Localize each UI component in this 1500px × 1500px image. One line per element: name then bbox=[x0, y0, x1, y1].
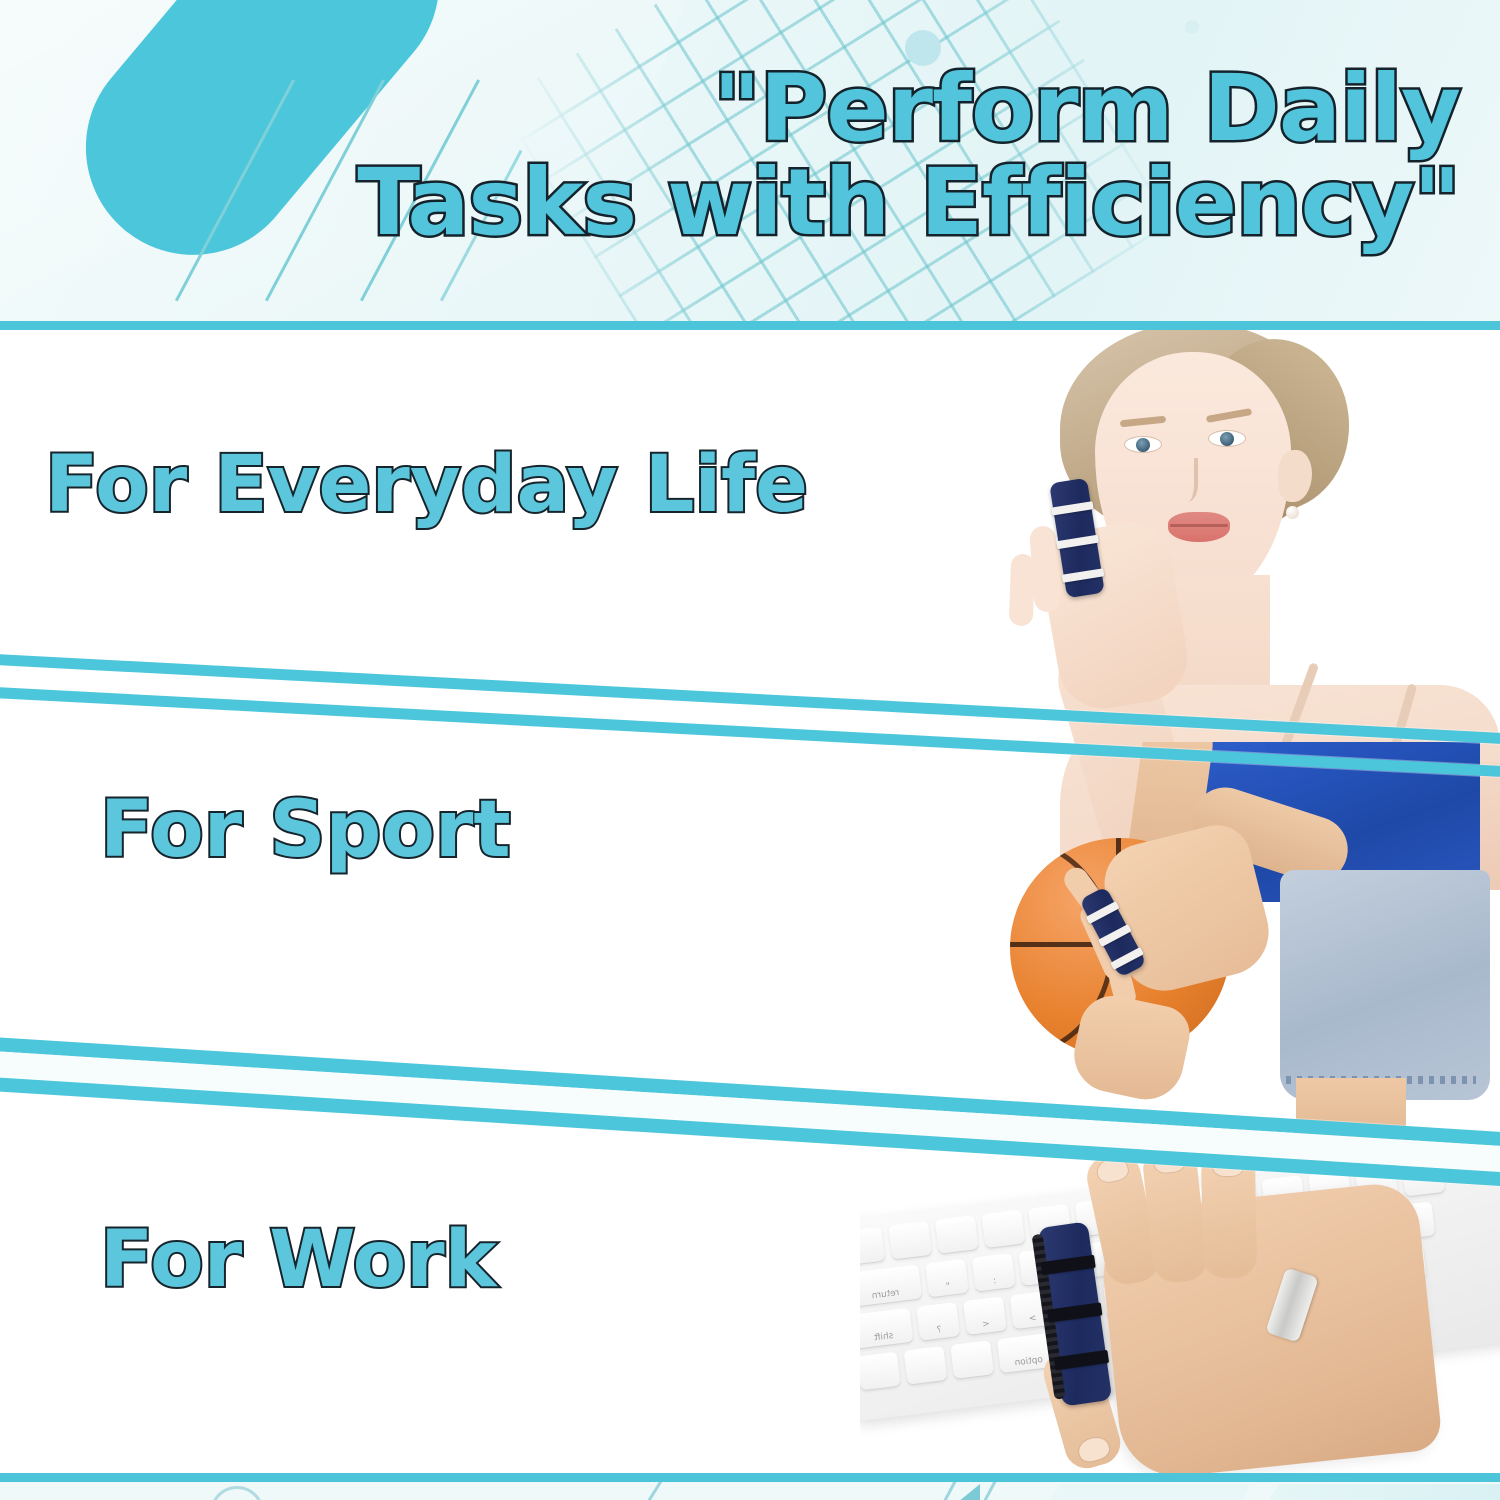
keyboard-key bbox=[860, 1227, 885, 1266]
poster-body: return " : L K J H G F D S A shift ? < bbox=[0, 330, 1500, 1473]
splint-strap bbox=[1051, 501, 1094, 515]
keyboard-key bbox=[935, 1215, 979, 1254]
splint-strap bbox=[1056, 535, 1099, 549]
model-eye bbox=[1208, 430, 1246, 447]
keyboard-key-return: return bbox=[860, 1264, 922, 1307]
splint-strap bbox=[1040, 1255, 1095, 1275]
poster-header: "Perform Daily Tasks with Efficiency" bbox=[0, 0, 1500, 330]
footer-line-decoration bbox=[640, 1473, 674, 1500]
splint-strap bbox=[1110, 947, 1144, 970]
keyboard-key bbox=[888, 1221, 932, 1260]
splint-strap bbox=[1054, 1350, 1109, 1370]
splint-strap bbox=[1086, 901, 1120, 924]
scene-sport bbox=[980, 742, 1500, 1162]
footer-shape-decoration bbox=[1260, 1484, 1500, 1500]
fingernail bbox=[1096, 1160, 1130, 1184]
headline: "Perform Daily Tasks with Efficiency" bbox=[0, 62, 1460, 250]
model-finger bbox=[1009, 554, 1035, 627]
footer-triangle-decoration bbox=[958, 1484, 980, 1500]
section-label-everyday-life: For Everyday Life bbox=[45, 440, 808, 530]
player-denim-shorts bbox=[1280, 870, 1490, 1100]
model-lip-line bbox=[1170, 524, 1228, 527]
header-bottom-rule bbox=[0, 321, 1500, 330]
keyboard-key-arrow bbox=[950, 1340, 994, 1379]
keyboard-key-shift: shift bbox=[860, 1308, 913, 1349]
footer-circle-decoration bbox=[210, 1486, 264, 1500]
headline-line-2: Tasks with Efficiency" bbox=[0, 156, 1460, 250]
splint-strap bbox=[1062, 568, 1105, 582]
typing-finger bbox=[1201, 1160, 1257, 1278]
keyboard-key-arrow bbox=[904, 1346, 948, 1385]
keyboard-key: " bbox=[925, 1259, 969, 1298]
splint-strap bbox=[1047, 1302, 1102, 1322]
keyboard-key-arrow bbox=[860, 1352, 901, 1391]
fingernail bbox=[1076, 1435, 1111, 1464]
model-earring bbox=[1286, 506, 1299, 519]
keyboard-key: : bbox=[972, 1253, 1016, 1292]
model-nose bbox=[1172, 458, 1198, 502]
headline-line-1: "Perform Daily bbox=[0, 62, 1460, 156]
keyboard-key bbox=[981, 1209, 1025, 1248]
model-lips bbox=[1168, 512, 1230, 542]
product-feature-poster: "Perform Daily Tasks with Efficiency" bbox=[0, 0, 1500, 1500]
model-eye bbox=[1124, 436, 1162, 453]
keyboard-key: ? bbox=[916, 1302, 960, 1341]
keyboard-key: < bbox=[963, 1296, 1007, 1335]
section-label-work: For Work bbox=[100, 1215, 497, 1305]
footer-shape-decoration bbox=[1040, 1484, 1250, 1500]
poster-footer bbox=[0, 1473, 1500, 1500]
dot-decoration bbox=[1185, 20, 1199, 34]
section-label-sport: For Sport bbox=[100, 785, 511, 875]
splint-strap bbox=[1098, 924, 1132, 947]
model-iris bbox=[1220, 432, 1234, 446]
model-iris bbox=[1136, 438, 1150, 452]
scene-work: return " : L K J H G F D S A shift ? < bbox=[860, 1160, 1500, 1473]
